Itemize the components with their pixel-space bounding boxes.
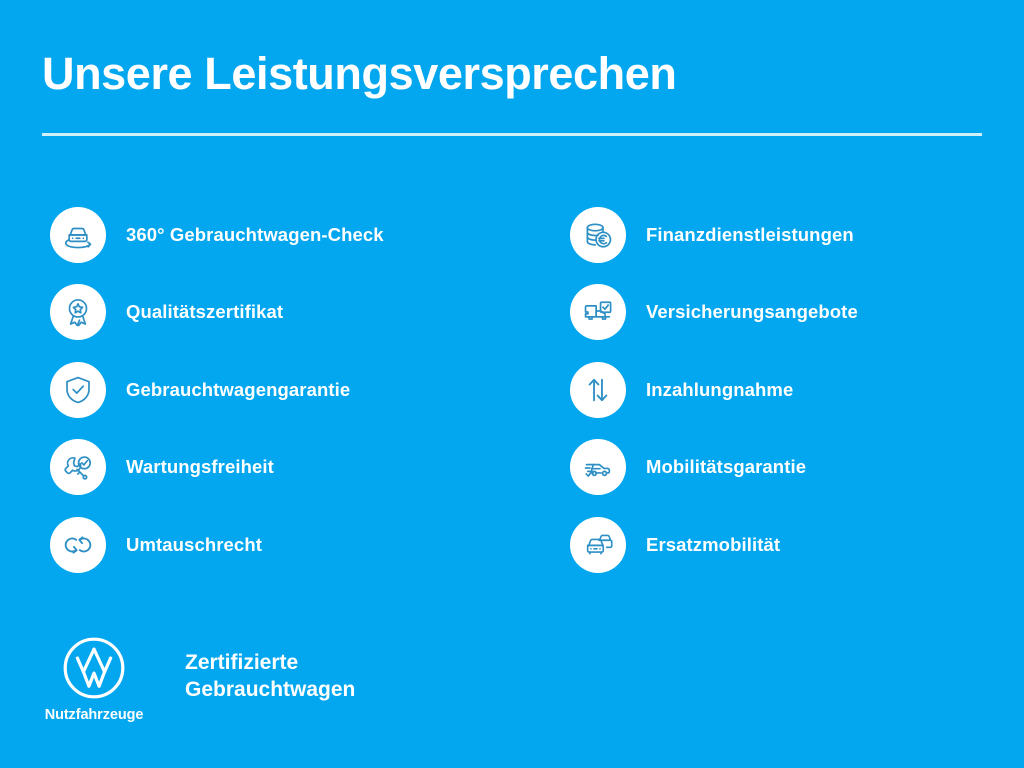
brand-claim-line2: Gebrauchtwagen [185, 676, 355, 703]
icon-badge [570, 207, 626, 263]
slide-root: Unsere Leistungsversprechen [0, 0, 1024, 768]
wrench-check-icon [61, 450, 95, 484]
van-checkbox-icon [581, 295, 615, 329]
promise-item-inzahlungnahme[interactable]: Inzahlungnahme [570, 351, 1024, 429]
promise-label: Finanzdienstleistungen [646, 224, 854, 246]
icon-badge [50, 517, 106, 573]
title-divider [42, 133, 982, 136]
page-title: Unsere Leistungsversprechen [42, 50, 676, 97]
icon-badge [50, 362, 106, 418]
icon-badge [50, 284, 106, 340]
promise-item-ersatzmobilitaet[interactable]: Ersatzmobilität [570, 506, 1024, 584]
brand-claim: Zertifizierte Gebrauchtwagen [185, 636, 355, 703]
two-cars-icon [581, 528, 615, 562]
promise-item-gebrauchtwagengarantie[interactable]: Gebrauchtwagengarantie [50, 351, 510, 429]
car-motion-check-icon [581, 450, 615, 484]
brand-mark: Nutzfahrzeuge [40, 636, 148, 723]
brand-lockup: Nutzfahrzeuge Zertifizierte Gebrauchtwag… [40, 636, 355, 723]
icon-badge [570, 284, 626, 340]
brand-claim-line1: Zertifizierte [185, 649, 355, 676]
icon-badge [50, 207, 106, 263]
promise-label: Ersatzmobilität [646, 534, 780, 556]
promise-label: Wartungsfreiheit [126, 456, 274, 478]
promise-item-qualitaetszertifikat[interactable]: Qualitätszertifikat [50, 274, 510, 352]
promises-column-right: Finanzdienstleistungen Versicherungsang [570, 196, 1024, 584]
promise-item-versicherungsangebote[interactable]: Versicherungsangebote [570, 274, 1024, 352]
promise-label: Gebrauchtwagengarantie [126, 379, 350, 401]
promise-label: 360° Gebrauchtwagen-Check [126, 224, 384, 246]
arrows-up-down-icon [581, 373, 615, 407]
promise-item-mobilitaetsgarantie[interactable]: Mobilitätsgarantie [570, 429, 1024, 507]
award-rosette-icon [61, 295, 95, 329]
exchange-arrows-icon [61, 528, 95, 562]
icon-badge [570, 517, 626, 573]
promise-item-umtauschrecht[interactable]: Umtauschrecht [50, 506, 510, 584]
icon-badge [570, 362, 626, 418]
icon-badge [570, 439, 626, 495]
promises-column-left: 360° Gebrauchtwagen-Check Qualitätszerti… [50, 196, 510, 584]
promise-label: Umtauschrecht [126, 534, 262, 556]
shield-check-icon [61, 373, 95, 407]
promise-label: Mobilitätsgarantie [646, 456, 806, 478]
promise-item-wartungsfreiheit[interactable]: Wartungsfreiheit [50, 429, 510, 507]
promise-label: Qualitätszertifikat [126, 301, 283, 323]
promise-item-gebrauchtwagen-check[interactable]: 360° Gebrauchtwagen-Check [50, 196, 510, 274]
promise-label: Versicherungsangebote [646, 301, 858, 323]
volkswagen-roundel-icon [62, 636, 126, 700]
promise-label: Inzahlungnahme [646, 379, 793, 401]
promise-item-finanzdienstleistungen[interactable]: Finanzdienstleistungen [570, 196, 1024, 274]
icon-badge [50, 439, 106, 495]
coins-euro-icon [581, 218, 615, 252]
car-360-check-icon [61, 218, 95, 252]
brand-sub-label: Nutzfahrzeuge [45, 707, 144, 723]
